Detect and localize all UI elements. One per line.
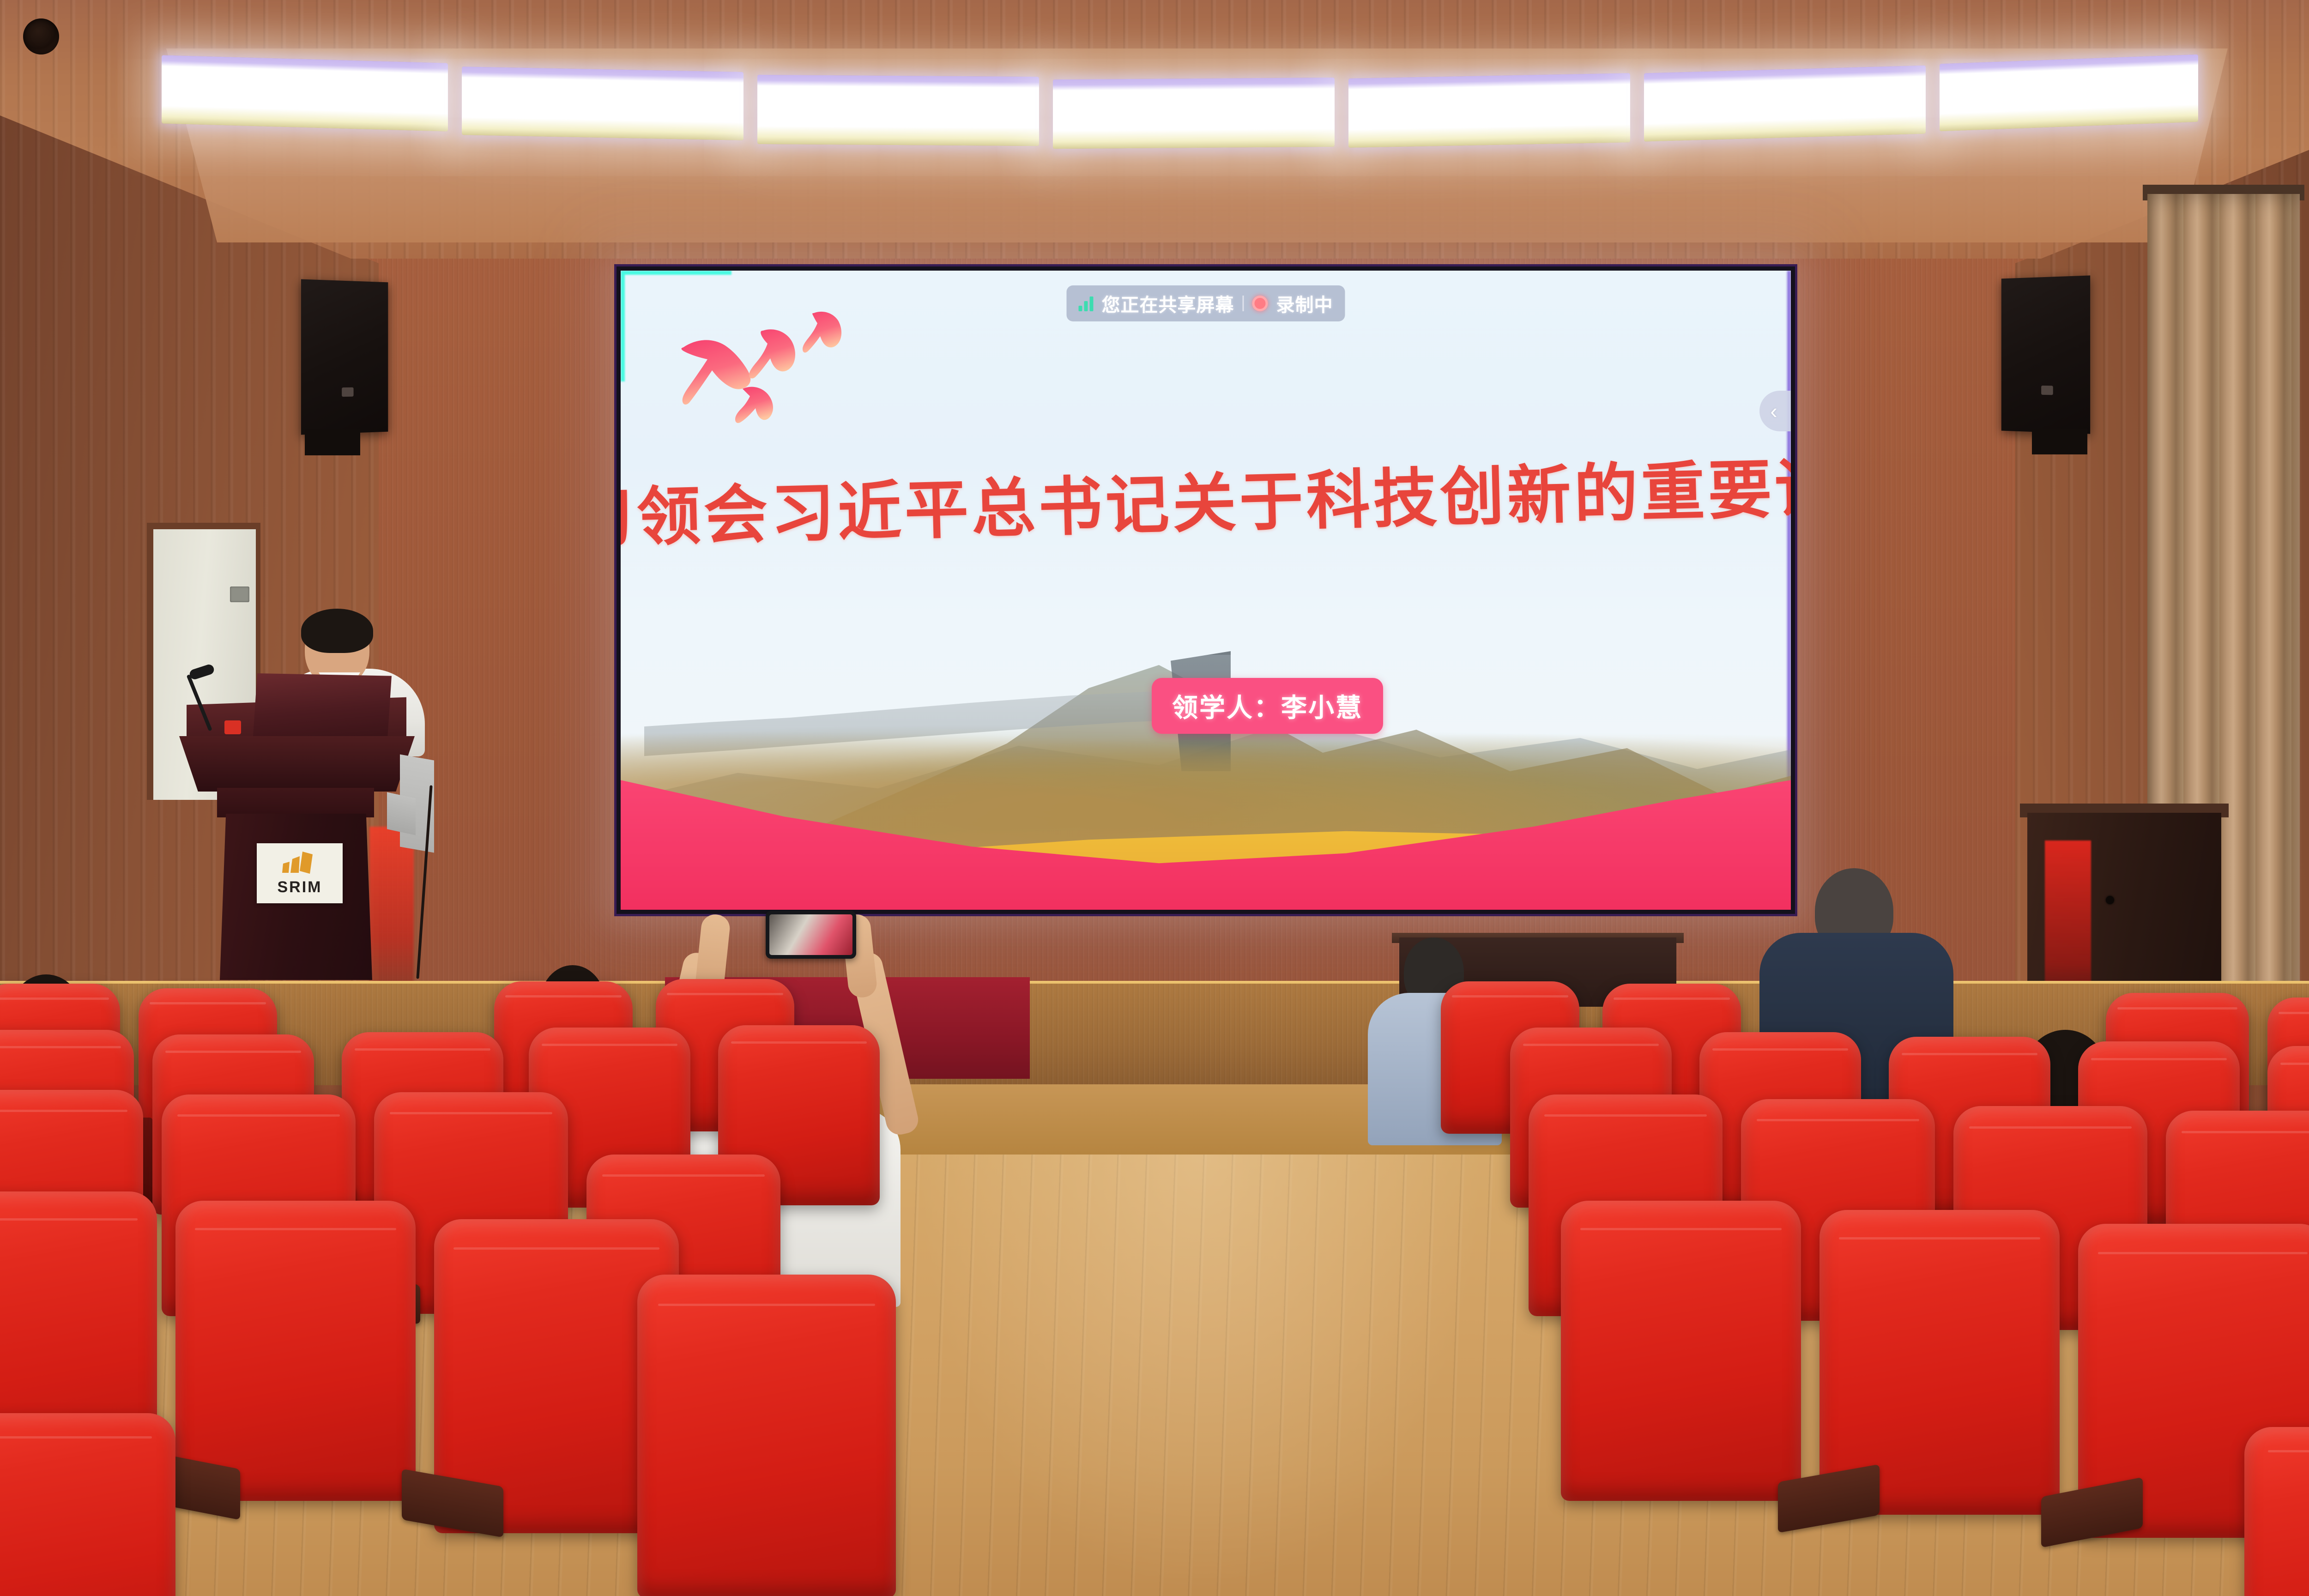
podium-side-panel-lower — [387, 792, 416, 835]
slide-speaker-badge: 领学人：李小慧 — [1152, 678, 1383, 734]
slide-title: 学习领会习近平总书记关于科技创新的重要论述 — [621, 435, 1791, 561]
podium-neck — [217, 788, 374, 817]
projection-screen[interactable]: 您正在共享屏幕 录制中 学习领会习近平总书记关于科技创新的重要论述 领学人：李小… — [621, 271, 1791, 910]
wall-speaker-right-bracket — [2032, 429, 2087, 454]
auditorium-seat[interactable] — [637, 1275, 896, 1596]
wall-speaker-left-bracket — [305, 429, 360, 455]
cabinet-knob-icon[interactable] — [2106, 896, 2114, 904]
auditorium-photo: 您正在共享屏幕 录制中 学习领会习近平总书记关于科技创新的重要论述 领学人：李小… — [0, 0, 2309, 1596]
podium-laptop[interactable] — [253, 673, 392, 739]
screen-share-toast: 您正在共享屏幕 录制中 — [1067, 285, 1345, 321]
ceiling-light-panel — [1644, 65, 1926, 141]
door-handle-icon[interactable] — [230, 586, 249, 602]
auditorium-seat[interactable] — [0, 1413, 175, 1596]
podium-logo-plate: SRIM — [257, 843, 343, 903]
podium-top — [179, 736, 415, 792]
ceiling-light-panel — [162, 55, 448, 131]
center-aisle-highlight — [914, 1155, 1487, 1596]
ceiling-light-panel — [1940, 54, 2198, 132]
podium-logo-text: SRIM — [278, 878, 322, 896]
panel-collapse-tab[interactable]: ‹ — [1759, 391, 1791, 431]
ceiling-light-panel — [1053, 78, 1335, 149]
ceiling-light-panel — [462, 66, 743, 140]
slide-speaker-label: 领学人：李小慧 — [1172, 693, 1363, 722]
signal-bars-icon — [1079, 296, 1094, 311]
ceiling-light-panel — [757, 75, 1039, 146]
ceiling-light-panel — [1348, 73, 1630, 148]
projection-screen-frame: 您正在共享屏幕 录制中 学习领会习近平总书记关于科技创新的重要论述 领学人：李小… — [614, 264, 1797, 916]
record-dot-icon — [1252, 296, 1268, 311]
podium-side-red-light — [369, 827, 414, 984]
sharing-label: 您正在共享屏幕 — [1102, 290, 1234, 317]
podium-indicator-light — [224, 720, 241, 734]
toast-divider — [1243, 296, 1244, 311]
wall-speaker-right — [2001, 275, 2090, 434]
ceiling-downlight — [23, 18, 59, 54]
recording-label: 录制中 — [1276, 290, 1333, 317]
auditorium-seat[interactable] — [175, 1201, 416, 1501]
auditorium-seat[interactable] — [2244, 1427, 2309, 1596]
presenter-hair — [301, 609, 373, 653]
flying-doves-icon — [675, 303, 888, 441]
chevron-left-icon: ‹ — [1770, 400, 1777, 422]
audience-smartphone[interactable] — [766, 911, 856, 959]
srim-logo-mark-icon — [278, 851, 321, 877]
wall-speaker-left — [301, 279, 388, 435]
smartphone-screen — [769, 914, 852, 955]
auditorium-seat[interactable] — [1561, 1201, 1801, 1501]
